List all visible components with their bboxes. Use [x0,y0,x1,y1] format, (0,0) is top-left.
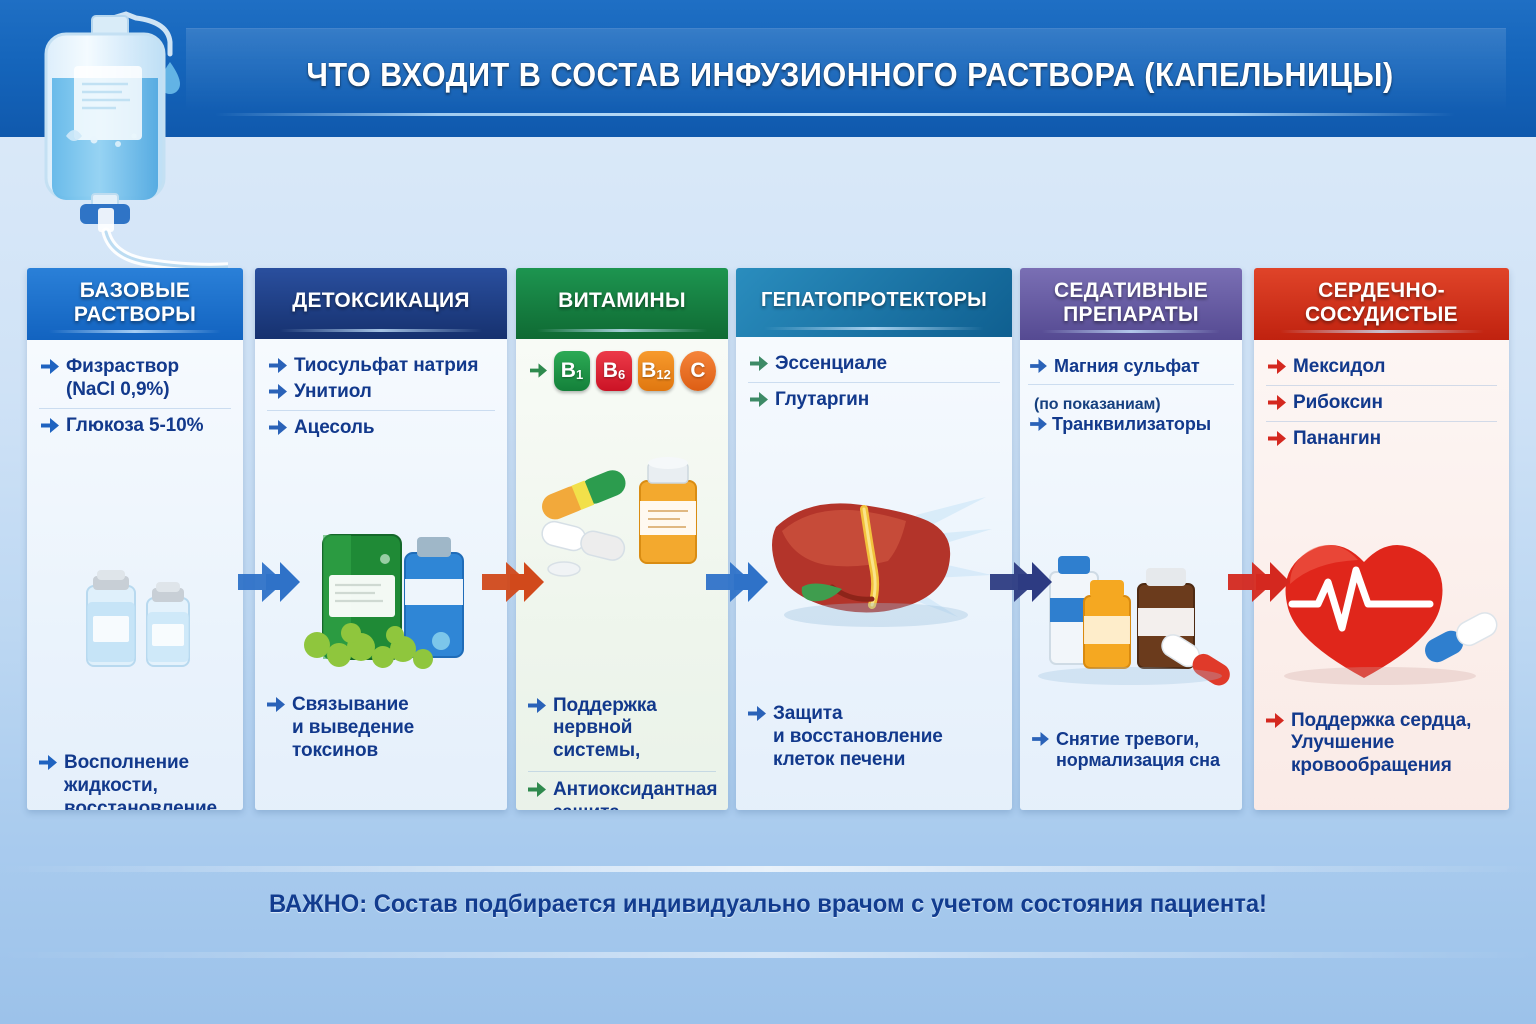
benefit-line: Снятие тревоги, [1056,729,1199,749]
bullet-arrow-icon [269,384,287,399]
flow-arrow-5 [1226,560,1292,604]
vitamin-badge-b6[interactable]: B6 [596,351,632,391]
flow-arrow-2 [480,560,546,604]
header-sheen [280,329,482,332]
bullet-arrow-icon [1030,359,1047,373]
benefit-line: Связывание [292,694,409,715]
list-item[interactable]: Физраствор (NaCl 0,9%) [39,350,231,408]
flow-arrow-3 [704,560,770,604]
card-header-sedatives: СЕДАТИВНЫЕ ПРЕПАРАТЫ [1020,268,1242,340]
list-item-label: Рибоксин [1293,392,1497,415]
list-item-label: Физраствор [66,356,179,377]
card-title-line2: СОСУДИСТЫЕ [1260,303,1503,327]
header-sheen [537,329,707,332]
list-item-label: Ацесоль [294,417,495,440]
item-list-cardiovascular: Мексидол Рибоксин Панангин [1254,350,1509,456]
list-item-label: Мексидол [1293,356,1497,379]
card-body-cardiovascular: Мексидол Рибоксин Панангин [1254,340,1509,810]
card-title-line1: ГЕПАТОПРОТЕКТОРЫ [742,289,1006,311]
bullet-arrow-icon [39,755,57,770]
benefit-hepatoprotectors: Защита и восстановление клеток печени [736,703,1012,771]
list-item-label: Магния сульфат [1054,356,1234,378]
footer-note: ВАЖНО: Состав подбирается индивидуально … [38,890,1497,919]
bullet-arrow-icon [1266,713,1284,728]
list-item[interactable]: Магния сульфат [1028,350,1234,384]
item-list-sedatives: Магния сульфат (по показаниам) Транквили… [1020,350,1242,441]
list-item-label: Эссенциале [775,353,1000,376]
bullet-arrow-icon [1032,732,1049,746]
card-detoxification[interactable]: ДЕТОКСИКАЦИЯ Тиосульфат натрия Унитиол [255,268,507,810]
bullet-arrow-icon [269,420,287,435]
badge-sub: 6 [618,367,625,382]
badge-letter: B [561,359,576,383]
list-item[interactable]: Глюкоза 5-10% [39,408,231,444]
list-item-label: Глутаргин [775,389,1000,412]
benefit-line: нормализация сна [1056,750,1220,770]
flow-arrow-4 [988,560,1054,604]
list-item[interactable]: Унитиол [267,379,495,410]
benefit-line: кровообращения [1291,755,1452,776]
benefit-cardiovascular: Поддержка сердца, Улучшение кровообращен… [1254,710,1509,778]
card-header-vitamins: ВИТАМИНЫ [516,268,728,339]
list-item-note: (по показаниам) [1030,393,1234,414]
bullet-arrow-icon [1268,359,1286,374]
card-body-vitamins: B1 B6 B12 C [516,339,728,810]
list-item-label: Транквилизаторы [1052,414,1234,436]
header-sheen [49,330,222,333]
list-item-label: Унитиол [294,381,495,404]
item-list-hepatoprotectors: Эссенциале Глутаргин [736,347,1012,418]
benefit-line: Восполнение [64,752,189,773]
header-underline [215,113,1455,116]
card-title-line1: БАЗОВЫЕ [33,279,237,303]
card-title-line1: СЕРДЕЧНО- [1260,279,1503,303]
list-item[interactable]: Ацесоль [267,410,495,446]
badge-letter: C [690,359,705,383]
card-vitamins[interactable]: ВИТАМИНЫ B1 B6 B12 [516,268,728,810]
card-header-detoxification: ДЕТОКСИКАЦИЯ [255,268,507,339]
flow-arrow-1 [236,560,302,604]
bullet-arrow-icon [41,359,59,374]
card-body-hepatoprotectors: Эссенциале Глутаргин [736,337,1012,810]
list-item[interactable]: Тиосульфат натрия [267,349,495,380]
card-sedatives[interactable]: СЕДАТИВНЫЕ ПРЕПАРАТЫ Магния сульфат (по … [1020,268,1242,810]
card-title-line1: СЕДАТИВНЫЕ [1026,279,1236,303]
benefit-line: Защита [773,703,842,724]
card-title-line2: РАСТВОРЫ [33,303,237,327]
vitamin-badge-b12[interactable]: B12 [638,351,674,391]
bullet-arrow-icon [528,698,546,713]
bullet-arrow-icon [748,706,766,721]
vitamin-badge-c[interactable]: C [680,351,716,391]
badge-sub: 1 [576,367,583,382]
card-body-base-solutions: Физраствор (NaCl 0,9%) Глюкоза 5-10% [27,340,243,810]
list-item[interactable]: Мексидол [1266,350,1497,385]
capsules-and-bottle-icon [516,419,728,589]
list-item[interactable]: Рибоксин [1266,385,1497,421]
list-item[interactable]: Эссенциале [748,347,1000,382]
list-item-label: Глюкоза 5-10% [66,415,231,438]
benefit-line: и выведение [292,717,414,738]
list-item[interactable]: Глутаргин [748,382,1000,418]
card-title-line1: ВИТАМИНЫ [522,289,722,313]
card-title-line2: ПРЕПАРАТЫ [1026,303,1236,327]
benefit-sedatives: Снятие тревоги, нормализация сна [1020,729,1242,772]
iv-drip-bag-icon [18,8,228,268]
benefit-base-solutions: Восполнение жидкости, восстановление эле… [27,752,243,810]
infographic-root: ЧТО ВХОДИТ В СОСТАВ ИНФУЗИОННОГО РАСТВОР… [0,0,1536,1024]
benefit-line: Улучшение [1291,732,1394,753]
benefit-line: и восстановление [773,726,943,747]
benefit-line: жидкости, [64,775,158,796]
benefit-line: нервной [553,717,632,738]
list-item[interactable]: Панангин [1266,421,1497,457]
benefit-line: системы, [553,740,640,761]
header-sheen [764,327,985,330]
card-header-base-solutions: БАЗОВЫЕ РАСТВОРЫ [27,268,243,340]
card-hepatoprotectors[interactable]: ГЕПАТОПРОТЕКТОРЫ Эссенциале Глутаргин [736,268,1012,810]
bullet-arrow-icon [1268,431,1286,446]
footer-divider-top [0,866,1536,872]
benefit-line: защита [553,802,620,810]
benefit-line: Антиоксидантная [553,779,717,800]
card-title-line1: ДЕТОКСИКАЦИЯ [261,289,501,313]
benefit-line: токсинов [292,740,378,761]
benefit-detoxification: Связывание и выведение токсинов [255,694,507,762]
benefit-line: Поддержка сердца, [1291,710,1471,731]
badge-letter: B [603,359,618,383]
card-base-solutions[interactable]: БАЗОВЫЕ РАСТВОРЫ Физраствор (NaCl 0,9%) [27,268,243,810]
bullet-arrow-icon [750,392,768,407]
header-sheen [1280,330,1484,333]
item-list-detoxification: Тиосульфат натрия Унитиол Ацесоль [255,349,507,446]
heart-ecg-icon [1254,526,1509,686]
list-item-sublabel: (NaCl 0,9%) [66,379,169,400]
vitamin-badges: B1 B6 B12 C [528,347,716,393]
benefit-line: клеток печени [773,749,905,770]
footer-divider-bottom [0,952,1536,958]
page-title: ЧТО ВХОДИТ В СОСТАВ ИНФУЗИОННОГО РАСТВОР… [236,56,1464,94]
bullet-arrow-icon [750,356,768,371]
badge-list-vitamins: B1 B6 B12 C [516,347,728,393]
category-cards: БАЗОВЫЕ РАСТВОРЫ Физраствор (NaCl 0,9%) [0,268,1536,813]
badge-sub: 12 [656,367,670,382]
card-header-hepatoprotectors: ГЕПАТОПРОТЕКТОРЫ [736,268,1012,337]
benefit-vitamins: Поддержка нервной системы, Антиоксидантн… [516,695,728,810]
bullet-arrow-icon [528,782,546,797]
list-item-label: Тиосульфат натрия [294,355,495,378]
bullet-arrow-icon [1030,417,1047,431]
bullet-arrow-icon [41,418,59,433]
header-sheen [1042,330,1220,333]
liver-icon [736,465,1012,645]
card-header-cardiovascular: СЕРДЕЧНО- СОСУДИСТЫЕ [1254,268,1509,340]
bullet-arrow-icon [1268,395,1286,410]
card-cardiovascular[interactable]: СЕРДЕЧНО- СОСУДИСТЫЕ Мексидол Рибоксин [1254,268,1509,810]
iv-bottles-icon [27,556,243,676]
bullet-arrow-icon [530,363,547,378]
benefit-line: восстановление [64,798,217,810]
list-item-label: Панангин [1293,428,1497,451]
badge-letter: B [641,359,656,383]
item-list-base-solutions: Физраствор (NaCl 0,9%) Глюкоза 5-10% [27,350,243,443]
list-item[interactable]: (по показаниам) Транквилизаторы [1028,384,1234,442]
benefit-line: Поддержка [553,695,657,716]
vitamin-badge-b1[interactable]: B1 [554,351,590,391]
bullet-arrow-icon [267,697,285,712]
bullet-arrow-icon [269,358,287,373]
